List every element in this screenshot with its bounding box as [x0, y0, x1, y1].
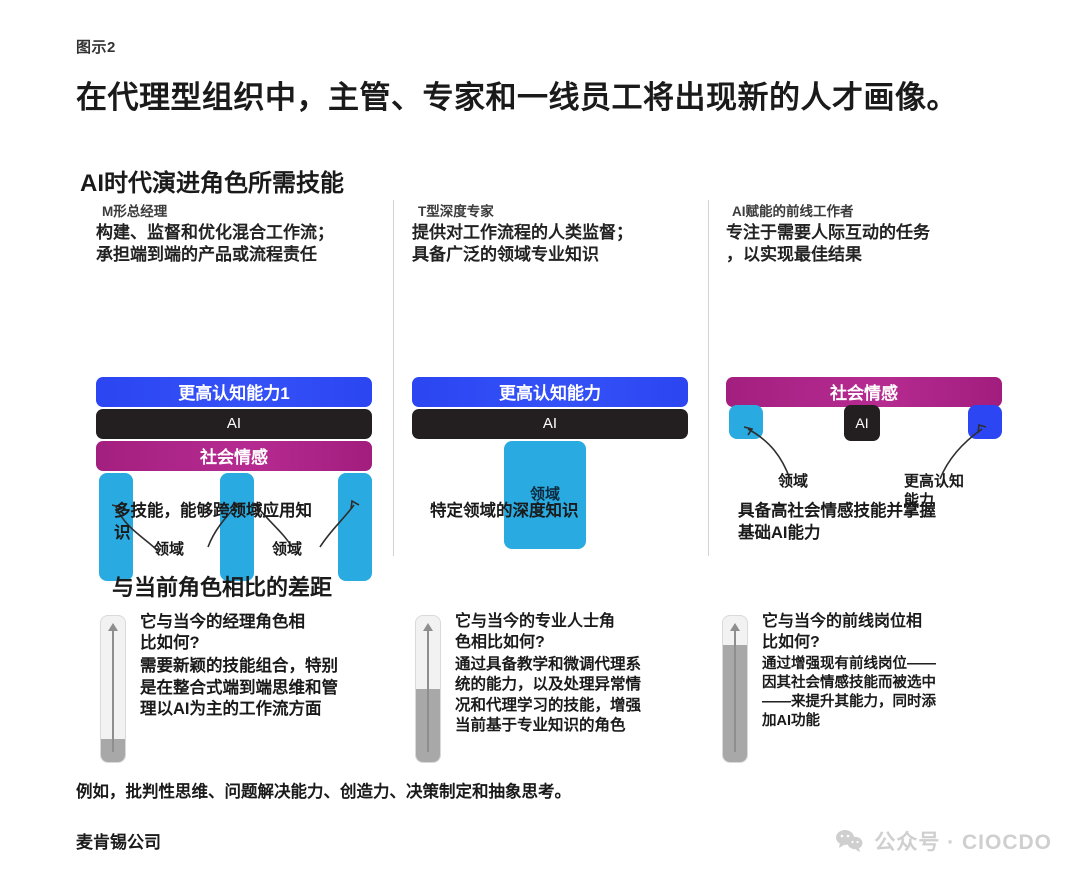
role-column-frontline: AI赋能的前线工作者 专注于需要人际互动的任务 ，以实现最佳结果 社会情感 AI…: [726, 200, 1026, 489]
footnote: 例如，批判性思维、问题解决能力、创造力、决策制定和抽象思考。: [76, 778, 571, 802]
wechat-icon: [835, 829, 865, 853]
role-kicker: AI赋能的前线工作者: [732, 200, 1026, 220]
gap-gauge: [722, 615, 748, 763]
column-note: 多技能，能够跨领域应用知 识: [114, 500, 384, 545]
gap-section-title: 与当前角色相比的差距: [112, 570, 332, 602]
domain-block-center: 领域: [504, 441, 586, 549]
gap-item-frontline: 它与当今的前线岗位相 比如何? 通过增强现有前线岗位—— 因其社会情感技能而被选…: [722, 612, 1022, 731]
column-note: 特定领域的深度知识: [430, 500, 700, 522]
gauge-arrow-icon: [423, 623, 433, 631]
exhibit-label: 图示2: [76, 36, 116, 57]
gap-answer: 通过增强现有前线岗位—— 因其社会情感技能而被选中 ——来提升其能力，同时添 加…: [762, 655, 1022, 732]
gauge-stem: [427, 630, 429, 752]
role-description: 专注于需要人际互动的任务 ，以实现最佳结果: [726, 222, 1026, 267]
column-note: 具备高社会情感技能并掌握 基础AI能力: [738, 500, 998, 545]
role-column-t-shaped: T型深度专家 提供对工作流程的人类监督； 具备广泛的领域专业知识 更高认知能力 …: [412, 200, 712, 489]
role-kicker: M形总经理: [102, 200, 396, 220]
shape-diagram-m: 更高认知能力1 AI 社会情感 领域 领域: [96, 279, 396, 489]
role-kicker: T型深度专家: [418, 200, 712, 220]
bar-ai: AI: [412, 409, 688, 439]
domain-arrows: [96, 279, 396, 599]
shape-diagram-frontline: 社会情感 AI 领域 更高认知 能力: [726, 279, 1026, 489]
brand-watermark: 公众号 · CIOCDO: [835, 826, 1052, 856]
gap-gauge: [415, 615, 441, 763]
gap-answer: 需要新颖的技能组合，特别 是在整合式端到端思维和管 理以AI为主的工作流方面: [140, 656, 400, 721]
gauge-arrow-icon: [730, 623, 740, 631]
gauge-stem: [734, 630, 736, 752]
bar-cognitive: 更高认知能力: [412, 377, 688, 407]
gap-item-specialist: 它与当今的专业人士角 色相比如何? 通过具备教学和微调代理系 统的能力，以及处理…: [415, 612, 715, 736]
block-label-domain: 领域: [778, 473, 808, 492]
source-attribution: 麦肯锡公司: [76, 828, 161, 853]
gap-question: 它与当今的专业人士角 色相比如何?: [455, 612, 715, 654]
gap-item-manager: 它与当今的经理角色相 比如何? 需要新颖的技能组合，特别 是在整合式端到端思维和…: [100, 612, 400, 721]
role-description: 提供对工作流程的人类监督； 具备广泛的领域专业知识: [412, 222, 712, 267]
gap-question: 它与当今的经理角色相 比如何?: [140, 612, 400, 655]
frontline-arrows: [726, 279, 1026, 599]
gauge-arrow-icon: [108, 623, 118, 631]
gauge-stem: [112, 630, 114, 752]
infographic-page: 图示2 在代理型组织中，主管、专家和一线员工将出现新的人才画像。 AI时代演进角…: [0, 0, 1080, 880]
role-description: 构建、监督和优化混合工作流； 承担端到端的产品或流程责任: [96, 222, 396, 267]
brand-text: 公众号 · CIOCDO: [874, 826, 1052, 856]
gap-answer: 通过具备教学和微调代理系 统的能力，以及处理异常情 况和代理学习的技能，增强 当…: [455, 655, 715, 737]
page-title: 在代理型组织中，主管、专家和一线员工将出现新的人才画像。: [76, 72, 958, 117]
gap-question: 它与当今的前线岗位相 比如何?: [762, 612, 1022, 654]
gap-gauge: [100, 615, 126, 763]
shape-diagram-t: 更高认知能力 AI 领域: [412, 279, 712, 489]
section-title: AI时代演进角色所需技能: [80, 163, 344, 198]
role-column-m-shaped: M形总经理 构建、监督和优化混合工作流； 承担端到端的产品或流程责任 更高认知能…: [96, 200, 396, 489]
